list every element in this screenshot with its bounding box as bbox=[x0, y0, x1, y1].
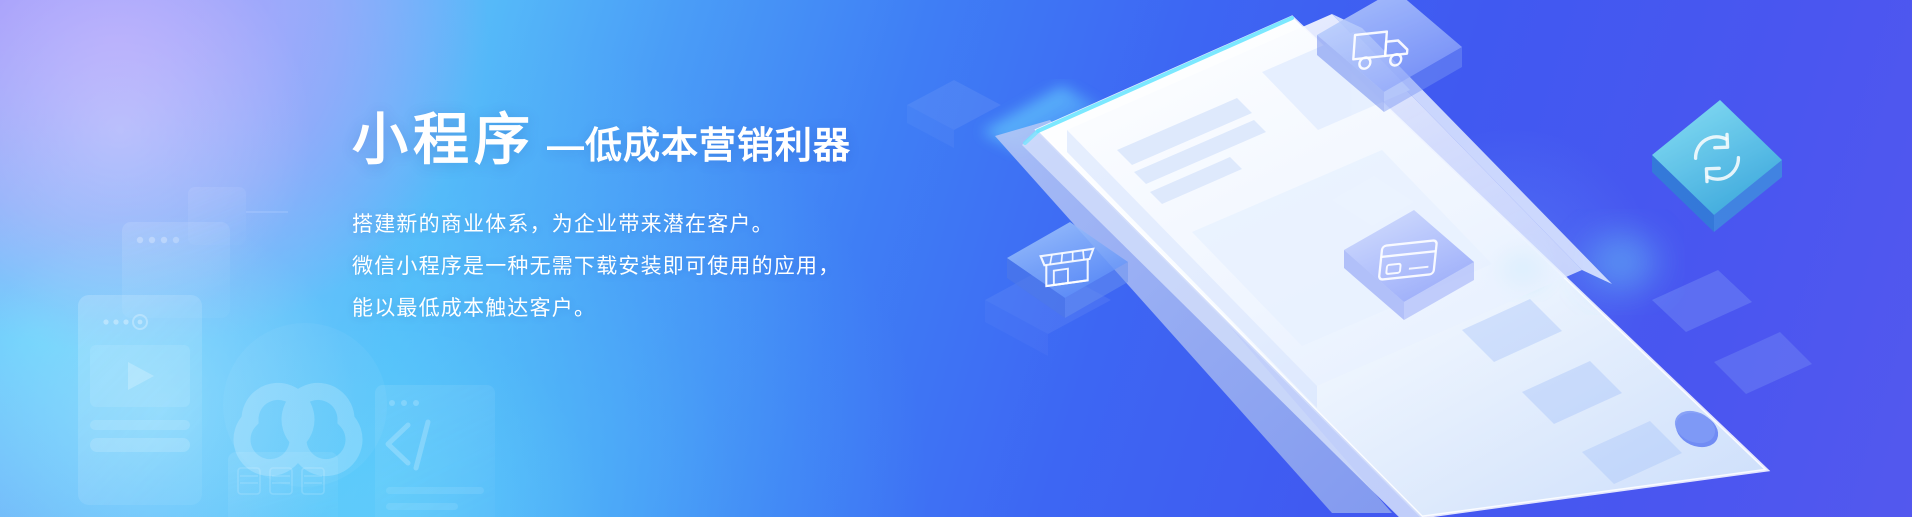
sync-refresh-icon bbox=[1652, 100, 1782, 232]
paragraph-line-1: 搭建新的商业体系，为企业带来潜在客户。 bbox=[352, 204, 972, 246]
video-player-card bbox=[78, 295, 202, 505]
headline-sub: —低成本营销利器 bbox=[547, 127, 851, 168]
paragraph-line-2: 微信小程序是一种无需下载安装即可使用的应用， bbox=[352, 246, 972, 288]
banner-copy: 小程序 —低成本营销利器 搭建新的商业体系，为企业带来潜在客户。 微信小程序是一… bbox=[352, 112, 972, 330]
paragraph-line-3: 能以最低成本触达客户。 bbox=[352, 288, 972, 330]
wechat-miniprogram-logo bbox=[223, 323, 387, 487]
browser-window bbox=[122, 222, 230, 318]
list-card bbox=[228, 452, 338, 517]
banner-headline: 小程序 —低成本营销利器 bbox=[352, 112, 972, 168]
light-bloom-left bbox=[0, 210, 380, 517]
floating-square bbox=[188, 187, 288, 245]
headline-main: 小程序 bbox=[352, 112, 535, 168]
light-bloom-bottom-left bbox=[120, 330, 640, 517]
code-brackets-window bbox=[375, 385, 495, 517]
light-bloom-top-left bbox=[0, 0, 330, 320]
banner-paragraph: 搭建新的商业体系，为企业带来潜在客户。 微信小程序是一种无需下载安装即可使用的应… bbox=[352, 204, 972, 330]
miniprogram-illustration bbox=[862, 0, 1912, 517]
promo-banner: 小程序 —低成本营销利器 搭建新的商业体系，为企业带来潜在客户。 微信小程序是一… bbox=[0, 0, 1912, 517]
